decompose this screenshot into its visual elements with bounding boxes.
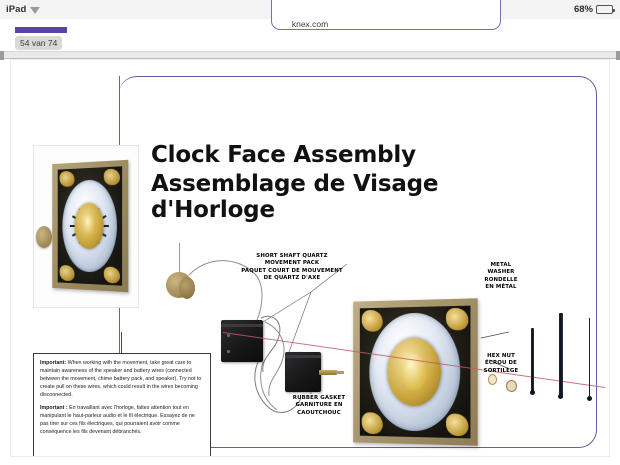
clock-center-ornament: [75, 203, 104, 250]
callout-line: ÉCROU DE: [466, 360, 536, 367]
callout-metal-washer: METAL WASHER RONDELLE EN MÉTAL: [466, 262, 536, 292]
second-hand: [589, 318, 590, 400]
note-english: Important: When working with the movemen…: [40, 359, 204, 399]
callout-line: PAQUET COURT DE MOUVEMENT: [218, 268, 366, 275]
toolbar-cap-left: [0, 51, 4, 60]
clock-frame: [52, 160, 128, 292]
clock-face-frame: [353, 298, 478, 445]
quartz-movement-pack: [285, 352, 321, 392]
callout-line: DE QUARTZ D'AXE: [218, 275, 366, 282]
page-title-block: Clock Face Assembly Assemblage de Visage…: [151, 142, 511, 224]
second-hand-hub: [587, 396, 592, 401]
note-english-label: Important:: [40, 360, 66, 366]
callout-line: METAL: [466, 262, 536, 269]
shaft-tip: [336, 371, 344, 374]
clock-face-center-ornament: [388, 338, 441, 407]
note-french-label: Important :: [40, 405, 68, 411]
callout-line: CAOUTCHOUC: [273, 410, 365, 417]
minute-hand: [559, 313, 563, 398]
chime-battery-pack: [221, 320, 263, 362]
callout-short-shaft-quartz-movement-pack: SHORT SHAFT QUARTZ MOVEMENT PACK PAQUET …: [218, 253, 366, 283]
callout-line: EN MÉTAL: [466, 284, 536, 291]
note-french: Important : En travaillant avec l'horlog…: [40, 404, 204, 436]
note-leader-line: [121, 332, 122, 353]
callout-line: GARNITURE EN: [273, 402, 365, 409]
hex-nut-part: [506, 380, 517, 392]
pendulum-bob-side: [179, 277, 195, 299]
progress-track[interactable]: [15, 27, 67, 33]
finished-clock-photo: [33, 145, 139, 308]
toolbar-cap-right: [616, 51, 620, 60]
callout-line: SHORT SHAFT QUARTZ: [218, 253, 366, 260]
clock-dial: [62, 179, 117, 273]
manual-page[interactable]: Clock Face Assembly Assemblage de Visage…: [10, 59, 610, 457]
page-title-label: knex.com: [0, 19, 620, 29]
callout-line: WASHER: [466, 269, 536, 276]
page-border-upper: [119, 76, 120, 145]
minute-hand-hub: [558, 394, 563, 399]
movement-shaft: [319, 370, 337, 375]
clock-face-dial: [369, 312, 460, 432]
bob-wire: [179, 243, 180, 273]
reader-progress[interactable]: 54 van 74: [15, 27, 73, 51]
clock-bezel: [58, 166, 122, 285]
title-french: Assemblage de Visage d'Horloge: [151, 171, 511, 224]
metal-washer-part-a: [488, 374, 497, 385]
callout-line: SORTILÈGE: [466, 368, 536, 375]
page-icon: ▭: [301, 20, 308, 28]
page-bottom-gutter: [0, 457, 620, 465]
callout-hex-nut: HEX NUT ÉCROU DE SORTILÈGE: [466, 353, 536, 375]
clock-face-photo: [351, 300, 477, 444]
title-english: Clock Face Assembly: [151, 142, 511, 169]
important-note-box: Important: When working with the movemen…: [33, 353, 211, 457]
clock-face-bezel: [360, 306, 471, 439]
progress-fill: [15, 27, 67, 33]
callout-line: MOVEMENT PACK: [218, 260, 366, 267]
hour-hand-hub: [530, 390, 535, 395]
clock-knob: [36, 226, 52, 248]
page-position-label: 54 van 74: [15, 36, 62, 50]
toolbar-separator: [0, 51, 620, 59]
callout-rubber-gasket: RUBBER GASKET GARNITURE EN CAOUTCHOUC: [273, 395, 365, 417]
callout-line: RUBBER GASKET: [273, 395, 365, 402]
